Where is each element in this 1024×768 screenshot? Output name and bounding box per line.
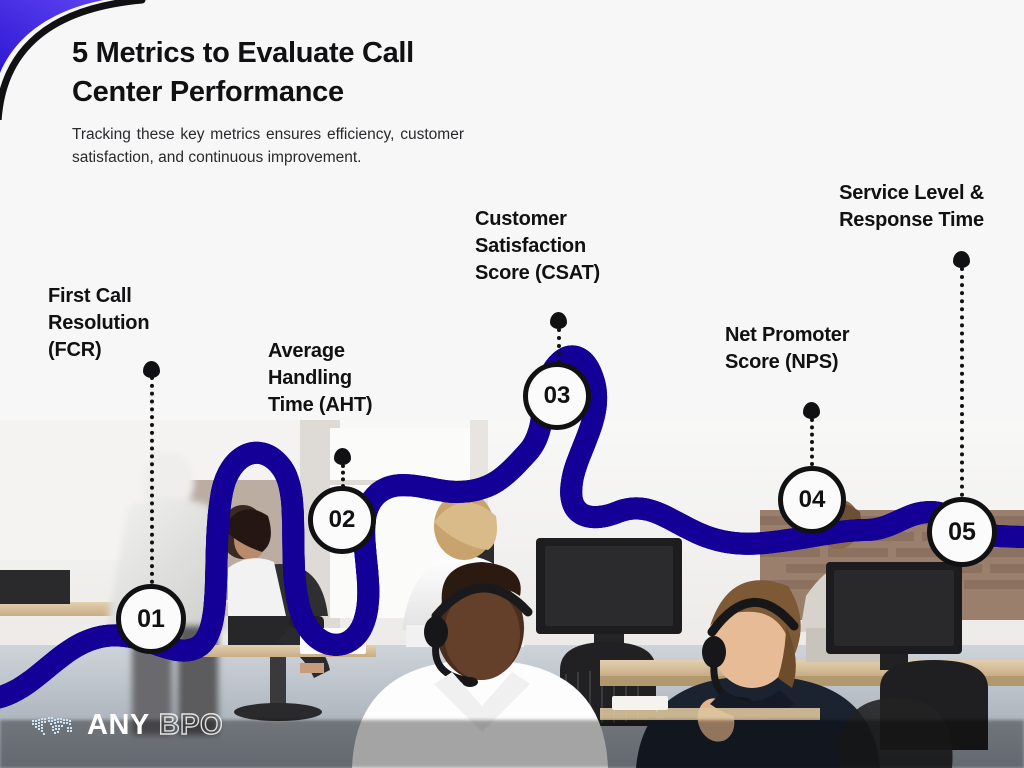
connector-stem-05 <box>960 267 964 497</box>
infographic-canvas: 5 Metrics to Evaluate Call Center Perfor… <box>0 0 1024 768</box>
brand-wordmark: ANY BPO <box>87 711 223 740</box>
metric-label-csat-line3: Score (CSAT) <box>475 260 675 287</box>
milestone-node-03[interactable]: 03 <box>523 362 591 430</box>
milestone-number-01: 01 <box>137 605 165 634</box>
brand-name-primary: ANY <box>87 711 150 740</box>
world-map-icon <box>30 713 74 739</box>
page-subtitle: Tracking these key metrics ensures effic… <box>72 124 464 170</box>
connector-dot-02 <box>334 448 351 465</box>
desktop-monitor-right <box>826 562 962 670</box>
connector-dot-04 <box>803 402 820 419</box>
metric-label-aht-line2: Handling <box>268 365 448 392</box>
page-title: 5 Metrics to Evaluate Call Center Perfor… <box>72 34 472 111</box>
metric-label-csat-line1: Customer <box>475 206 675 233</box>
milestone-node-02[interactable]: 02 <box>308 486 376 554</box>
connector-stem-02 <box>341 464 345 488</box>
metric-label-fcr-line1: First Call <box>48 283 228 310</box>
metric-label-fcr-line3: (FCR) <box>48 337 228 364</box>
connector-stem-03 <box>557 328 561 364</box>
metric-label-aht-line1: Average <box>268 338 448 365</box>
milestone-number-03: 03 <box>544 382 571 410</box>
connector-stem-01 <box>150 376 154 584</box>
connector-dot-03 <box>550 312 567 329</box>
metric-label-nps-line2: Score (NPS) <box>725 349 925 376</box>
metric-label-service-level: Service Level & Response Time <box>804 180 1019 234</box>
header-block: 5 Metrics to Evaluate Call Center Perfor… <box>72 34 472 170</box>
connector-dot-05 <box>953 251 970 268</box>
metric-label-service-level-line1: Service Level & <box>804 180 1019 207</box>
metric-label-aht: Average Handling Time (AHT) <box>268 338 448 419</box>
metric-label-csat-line2: Satisfaction <box>475 233 675 260</box>
milestone-node-05[interactable]: 05 <box>927 497 997 567</box>
milestone-node-01[interactable]: 01 <box>116 584 186 654</box>
brand-name-secondary: BPO <box>159 711 223 740</box>
metric-label-service-level-line2: Response Time <box>804 207 1019 234</box>
connector-stem-04 <box>810 418 814 466</box>
milestone-number-02: 02 <box>329 506 356 534</box>
metric-label-nps: Net Promoter Score (NPS) <box>725 322 925 376</box>
milestone-node-04[interactable]: 04 <box>778 466 846 534</box>
metric-label-fcr: First Call Resolution (FCR) <box>48 283 228 364</box>
milestone-number-04: 04 <box>799 486 826 514</box>
brand-lockup: ANY BPO <box>30 711 223 740</box>
metric-label-aht-line3: Time (AHT) <box>268 392 448 419</box>
metric-label-nps-line1: Net Promoter <box>725 322 925 349</box>
metric-label-csat: Customer Satisfaction Score (CSAT) <box>475 206 675 287</box>
metric-label-fcr-line2: Resolution <box>48 310 228 337</box>
milestone-number-05: 05 <box>948 518 976 547</box>
